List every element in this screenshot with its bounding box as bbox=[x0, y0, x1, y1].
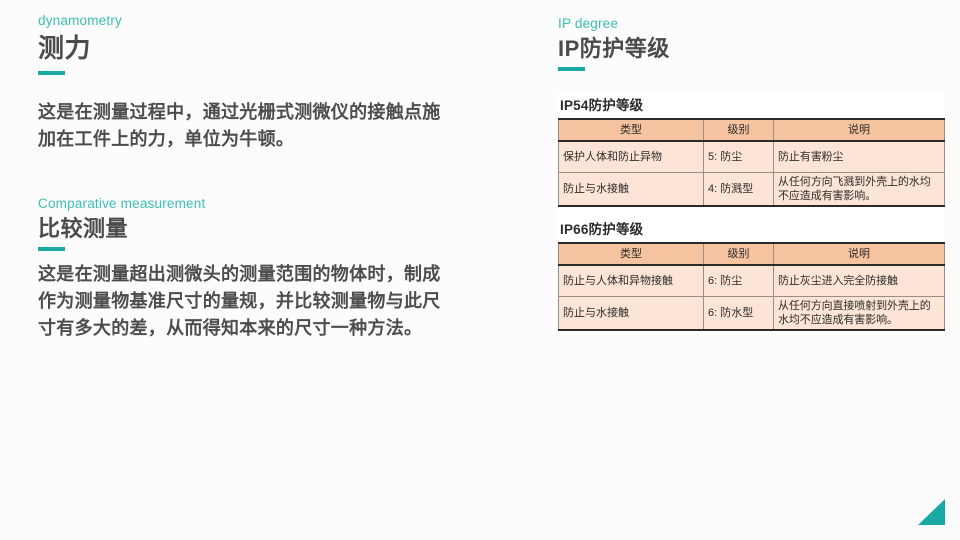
slide-canvas: dynamometry 测力 这是在测量过程中，通过光栅式测微仪的接触点施加在工… bbox=[0, 0, 960, 540]
section-eyebrow-dynamometry: dynamometry bbox=[38, 12, 498, 30]
left-column: dynamometry 测力 这是在测量过程中，通过光栅式测微仪的接触点施加在工… bbox=[38, 12, 498, 342]
cell-description: 防止有害粉尘 bbox=[774, 141, 945, 173]
accent-bar-comparative bbox=[38, 247, 65, 251]
section-eyebrow-ip-degree: IP degree bbox=[558, 15, 948, 33]
cell-level: 5: 防尘 bbox=[704, 141, 774, 173]
table-row: 防止与人体和异物接触 6: 防尘 防止灰尘进入完全防接触 bbox=[559, 265, 945, 297]
table-header-row: 类型 级别 说明 bbox=[559, 119, 945, 141]
table-header-row: 类型 级别 说明 bbox=[559, 243, 945, 265]
section-body-comparative: 这是在测量超出测微头的测量范围的物体时，制成作为测量物基准尺寸的量规，并比较测量… bbox=[38, 261, 458, 342]
column-header-level: 级别 bbox=[704, 243, 774, 265]
right-column: IP degree IP防护等级 IP54防护等级 类型 级别 说明 保护人体和… bbox=[558, 15, 948, 335]
table-row: 防止与水接触 4: 防溅型 从任何方向飞溅到外壳上的水均不应造成有害影响。 bbox=[559, 173, 945, 207]
column-header-level: 级别 bbox=[704, 119, 774, 141]
cell-level: 6: 防水型 bbox=[704, 297, 774, 331]
cell-type: 防止与水接触 bbox=[559, 297, 704, 331]
accent-bar-dynamometry bbox=[38, 71, 65, 75]
table-title-ip54: IP54防护等级 bbox=[558, 95, 944, 118]
cell-description: 从任何方向飞溅到外壳上的水均不应造成有害影响。 bbox=[774, 173, 945, 207]
column-header-type: 类型 bbox=[559, 243, 704, 265]
section-heading-ip-degree: IP防护等级 bbox=[558, 34, 948, 63]
cell-type: 防止与水接触 bbox=[559, 173, 704, 207]
section-comparative-measurement: Comparative measurement 比较测量 这是在测量超出测微头的… bbox=[38, 195, 498, 342]
column-header-type: 类型 bbox=[559, 119, 704, 141]
cell-description: 从任何方向直接喷射到外壳上的水均不应造成有害影响。 bbox=[774, 297, 945, 331]
section-heading-comparative: 比较测量 bbox=[38, 214, 498, 243]
ip54-table: 类型 级别 说明 保护人体和防止异物 5: 防尘 防止有害粉尘 防止与水接触 4… bbox=[558, 118, 945, 207]
corner-triangle-decoration bbox=[918, 499, 945, 525]
cell-level: 6: 防尘 bbox=[704, 265, 774, 297]
section-heading-dynamometry: 测力 bbox=[38, 31, 498, 65]
ip66-table: 类型 级别 说明 防止与人体和异物接触 6: 防尘 防止灰尘进入完全防接触 防止… bbox=[558, 242, 945, 331]
column-header-description: 说明 bbox=[774, 119, 945, 141]
cell-type: 保护人体和防止异物 bbox=[559, 141, 704, 173]
table-row: 保护人体和防止异物 5: 防尘 防止有害粉尘 bbox=[559, 141, 945, 173]
column-header-description: 说明 bbox=[774, 243, 945, 265]
section-dynamometry: dynamometry 测力 这是在测量过程中，通过光栅式测微仪的接触点施加在工… bbox=[38, 12, 498, 153]
accent-bar-ip-degree bbox=[558, 67, 585, 71]
table-row: 防止与水接触 6: 防水型 从任何方向直接喷射到外壳上的水均不应造成有害影响。 bbox=[559, 297, 945, 331]
ip-tables-panel: IP54防护等级 类型 级别 说明 保护人体和防止异物 5: 防尘 防止有害粉尘 bbox=[558, 93, 944, 335]
table-title-ip66: IP66防护等级 bbox=[558, 219, 944, 242]
cell-level: 4: 防溅型 bbox=[704, 173, 774, 207]
cell-type: 防止与人体和异物接触 bbox=[559, 265, 704, 297]
section-body-dynamometry: 这是在测量过程中，通过光栅式测微仪的接触点施加在工件上的力，单位为牛顿。 bbox=[38, 99, 458, 153]
cell-description: 防止灰尘进入完全防接触 bbox=[774, 265, 945, 297]
section-eyebrow-comparative: Comparative measurement bbox=[38, 195, 498, 213]
